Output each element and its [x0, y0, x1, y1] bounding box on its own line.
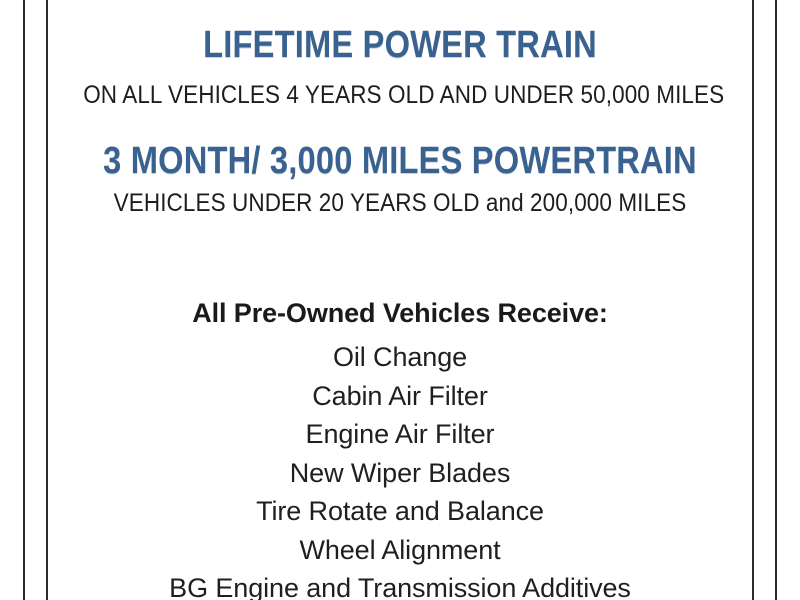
list-item: Wheel Alignment	[48, 531, 752, 570]
flyer-content: LIFETIME POWER TRAIN ON ALL VEHICLES 4 Y…	[48, 0, 752, 600]
border-rule-inner-right	[752, 0, 754, 600]
lifetime-powertrain-headline: LIFETIME POWER TRAIN	[97, 26, 702, 65]
list-item: BG Engine and Transmission Additives	[48, 569, 752, 600]
services-list: Oil Change Cabin Air Filter Engine Air F…	[48, 338, 752, 600]
list-item: Cabin Air Filter	[48, 377, 752, 416]
list-item: Oil Change	[48, 338, 752, 377]
border-rule-outer-right	[775, 0, 777, 600]
lifetime-powertrain-subtitle: ON ALL VEHICLES 4 YEARS OLD AND UNDER 50…	[83, 82, 717, 108]
list-item: Tire Rotate and Balance	[48, 492, 752, 531]
border-rule-outer-left	[23, 0, 25, 600]
warranty-flyer: LIFETIME POWER TRAIN ON ALL VEHICLES 4 Y…	[0, 0, 800, 600]
services-section: All Pre-Owned Vehicles Receive: Oil Chan…	[48, 300, 752, 600]
three-month-powertrain-subtitle: VEHICLES UNDER 20 YEARS OLD and 200,000 …	[83, 190, 717, 216]
three-month-powertrain-headline: 3 MONTH/ 3,000 MILES POWERTRAIN	[97, 142, 702, 181]
services-title: All Pre-Owned Vehicles Receive:	[48, 300, 752, 327]
list-item: New Wiper Blades	[48, 454, 752, 493]
list-item: Engine Air Filter	[48, 415, 752, 454]
